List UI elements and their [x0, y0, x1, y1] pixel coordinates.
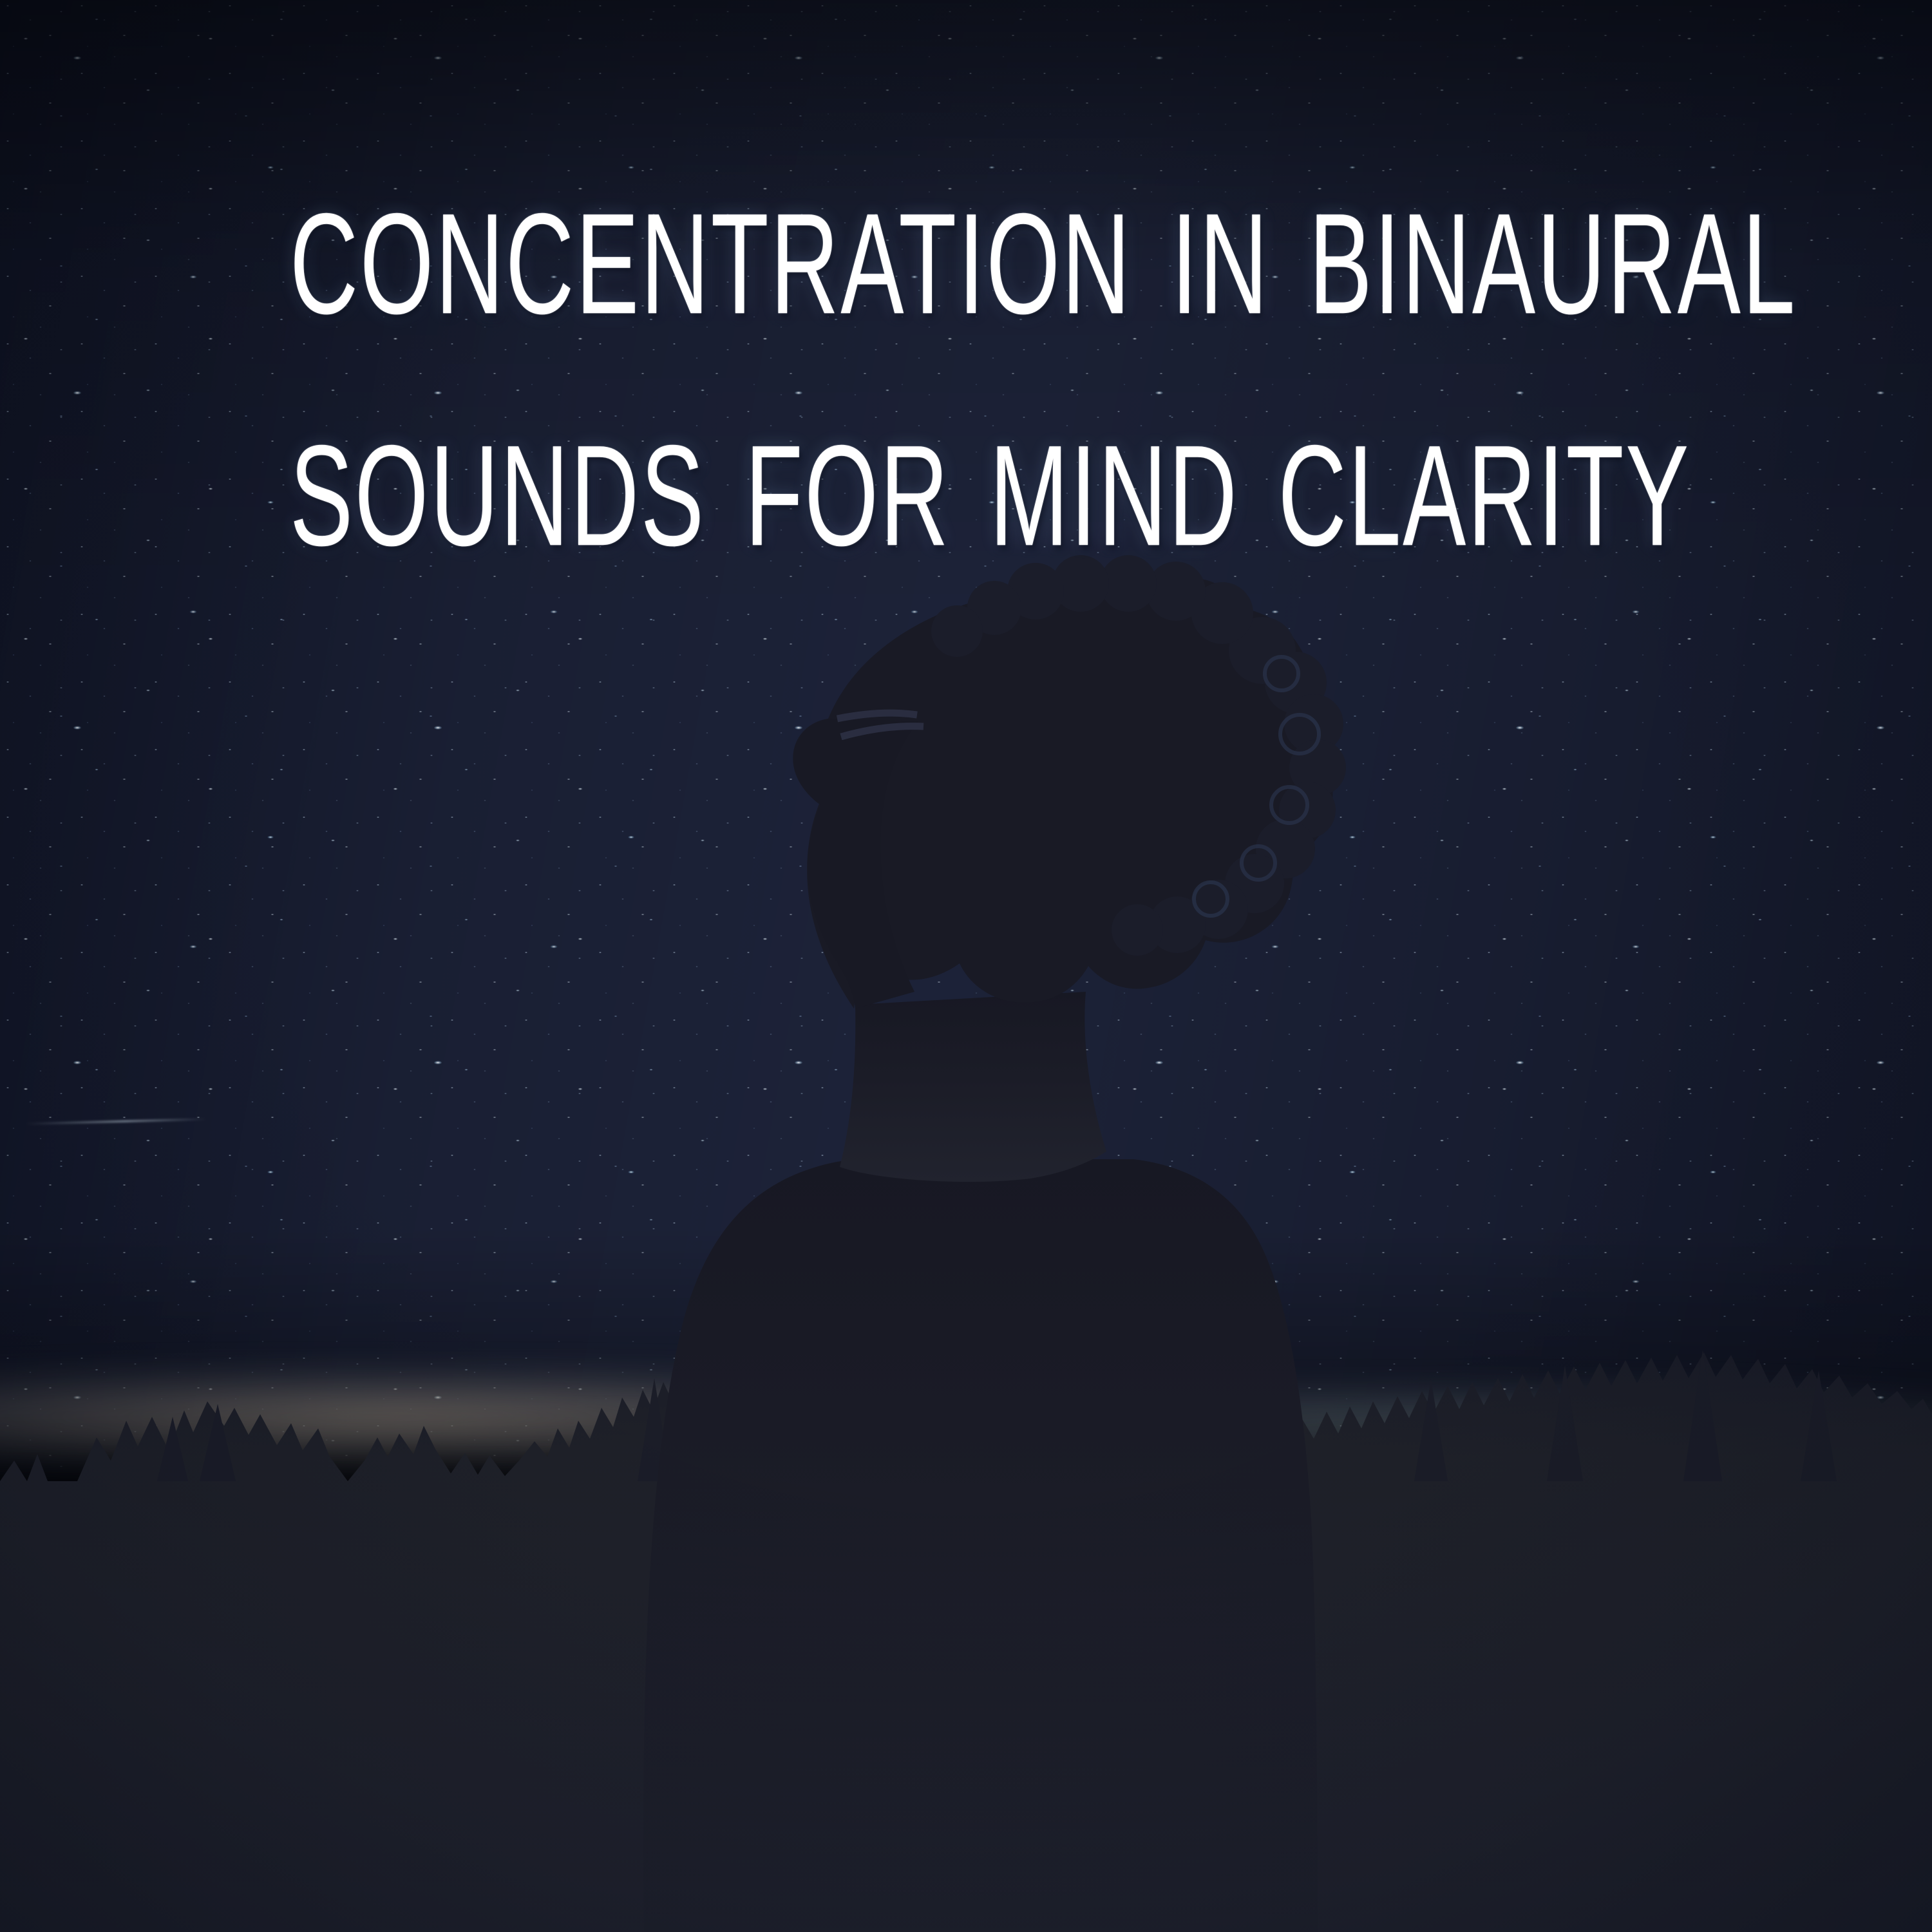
person-silhouette — [0, 0, 1932, 1932]
album-cover-artwork: Concentration in Binaural Sounds for Min… — [0, 0, 1932, 1932]
